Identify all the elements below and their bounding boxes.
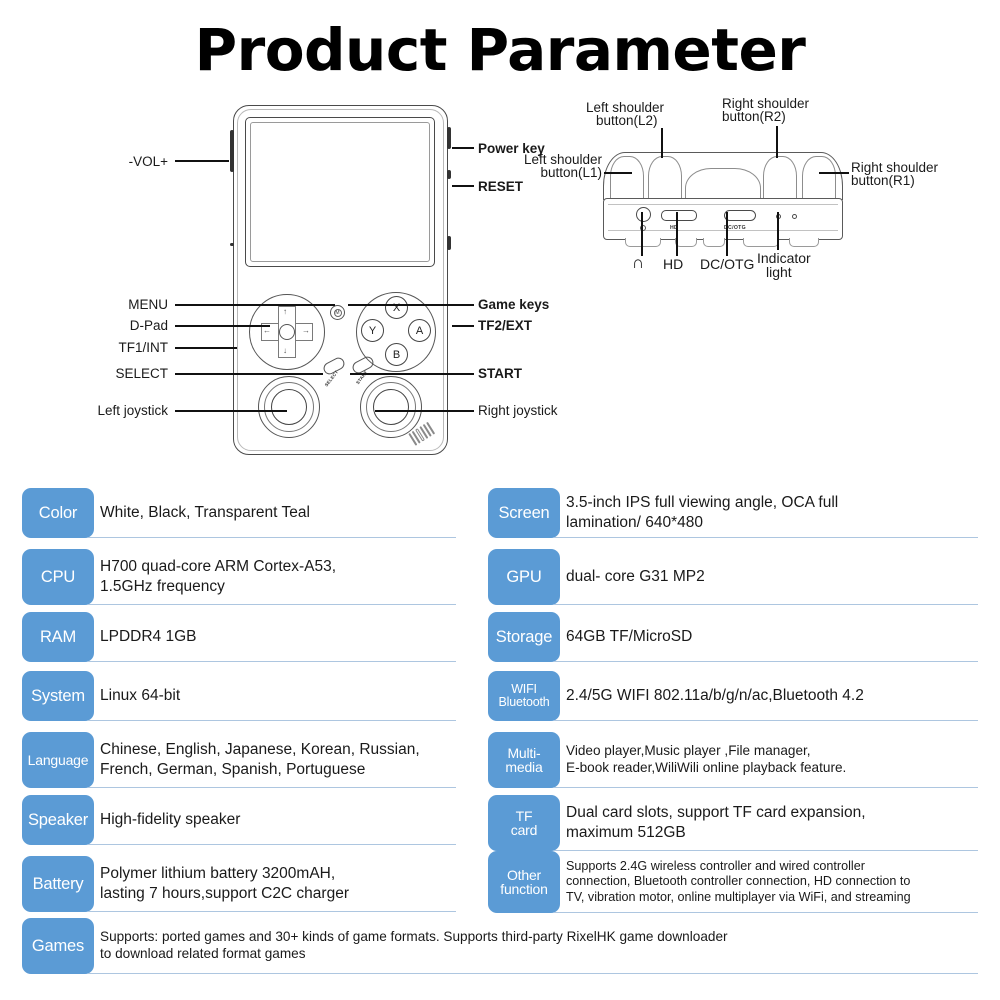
dpad-up-arrow-icon: ↑ (283, 308, 287, 316)
power-key (447, 127, 451, 149)
label-dc-otg: DC/OTG (700, 257, 754, 273)
foot-block (675, 238, 697, 247)
spec-row: Storage64GB TF/MicroSD (488, 612, 978, 662)
spec-label-chip: TFcard (488, 795, 560, 851)
spec-value-text: 2.4/5G WIFI 802.11a/b/g/n/ac,Bluetooth 4… (566, 686, 864, 706)
leader-dc-otg (726, 212, 728, 256)
label-left-joystick: Left joystick (58, 403, 168, 418)
spec-value-text: 3.5-inch IPS full viewing angle, OCA ful… (566, 493, 838, 533)
button-x: X (385, 296, 408, 319)
right-joystick (360, 376, 422, 438)
spec-value-text: LPDDR4 1GB (100, 627, 196, 647)
spec-row: ColorWhite, Black, Transparent Teal (22, 488, 456, 538)
spec-label-chip: Games (22, 918, 94, 974)
headphone-jack-port (636, 207, 651, 222)
spec-row: BatteryPolymer lithium battery 3200mAH,l… (22, 856, 456, 912)
spec-label-chip: Battery (22, 856, 94, 912)
headphone-icon: ∩ (632, 254, 644, 271)
page-title: Product Parameter (0, 16, 1000, 84)
spec-label-chip: Color (22, 488, 94, 538)
spec-row: Screen3.5-inch IPS full viewing angle, O… (488, 488, 978, 538)
menu-button: M (330, 305, 345, 320)
spec-row: LanguageChinese, English, Japanese, Kore… (22, 732, 456, 788)
spec-row: CPUH700 quad-core ARM Cortex-A53,1.5GHz … (22, 549, 456, 605)
label-tf1: TF1/INT (90, 340, 168, 355)
dc-otg-port (724, 210, 756, 221)
spec-row: SystemLinux 64-bit (22, 671, 456, 721)
spec-value-cell: Dual card slots, support TF card expansi… (554, 795, 978, 851)
spec-label-chip: CPU (22, 549, 94, 605)
left-joystick-cap (271, 389, 307, 425)
device-screen (250, 122, 430, 262)
label-right-joystick: Right joystick (478, 403, 558, 418)
spec-table: ColorWhite, Black, Transparent TealCPUH7… (0, 486, 1000, 986)
leader-tf1 (175, 347, 237, 349)
label-menu: MENU (100, 297, 168, 312)
spec-row: GPUdual- core G31 MP2 (488, 549, 978, 605)
spec-value-text: dual- core G31 MP2 (566, 567, 705, 587)
spec-label-chip: Storage (488, 612, 560, 662)
button-a: A (408, 319, 431, 342)
spec-value-cell: 64GB TF/MicroSD (554, 612, 978, 662)
spec-label-chip: System (22, 671, 94, 721)
spec-label-chip: RAM (22, 612, 94, 662)
foot-block (743, 238, 779, 247)
label-reset: RESET (478, 179, 523, 194)
label-indicator-light-line2: light (766, 265, 792, 281)
spec-value-text: Supports 2.4G wireless controller and wi… (566, 859, 911, 905)
label-dpad: D-Pad (100, 318, 168, 333)
spec-row: TFcardDual card slots, support TF card e… (488, 795, 978, 851)
dpad-down-arrow-icon: ↓ (283, 347, 287, 355)
spec-label-chip: Language (22, 732, 94, 788)
leader-hd (676, 212, 678, 256)
label-l1-line2: button(L1) (494, 165, 602, 180)
shoulder-button-row (603, 152, 843, 200)
top-face-panel: HD DC/OTG (603, 198, 843, 240)
dpad-left-arrow-icon: ← (263, 327, 271, 335)
leader-menu (175, 304, 335, 306)
spec-label-chip: Multi-media (488, 732, 560, 788)
reset-key (447, 170, 451, 179)
spec-value-cell: LPDDR4 1GB (88, 612, 456, 662)
dpad: ↑ ↓ ← → (261, 306, 313, 358)
spec-value-text: Supports: ported games and 30+ kinds of … (100, 929, 728, 963)
spec-label-chip: WIFIBluetooth (488, 671, 560, 721)
label-r1-line2: button(R1) (851, 173, 915, 188)
shoulder-button-l1 (610, 156, 644, 200)
spec-label-chip: Otherfunction (488, 851, 560, 913)
foot-block (789, 238, 819, 247)
spec-value-cell: 2.4/5G WIFI 802.11a/b/g/n/ac,Bluetooth 4… (554, 671, 978, 721)
label-r2-line2: button(R2) (722, 109, 786, 124)
leader-reset (452, 185, 474, 187)
indicator-led-2 (792, 214, 797, 219)
device-top-view: HD DC/OTG (603, 152, 843, 240)
spec-value-text: H700 quad-core ARM Cortex-A53,1.5GHz fre… (100, 557, 336, 597)
spec-value-text: White, Black, Transparent Teal (100, 503, 310, 523)
spec-value-text: Polymer lithium battery 3200mAH,lasting … (100, 864, 349, 904)
volume-key (230, 130, 234, 172)
spec-value-cell: Linux 64-bit (88, 671, 456, 721)
spec-row: OtherfunctionSupports 2.4G wireless cont… (488, 851, 978, 913)
label-vol: -VOL+ (108, 154, 168, 169)
spec-row: GamesSupports: ported games and 30+ kind… (22, 918, 978, 974)
spec-value-cell: Video player,Music player ,File manager,… (554, 732, 978, 788)
shoulder-button-l2 (648, 156, 682, 200)
spec-value-text: Dual card slots, support TF card expansi… (566, 803, 866, 843)
label-start: START (478, 366, 522, 381)
top-face-hairline (608, 204, 838, 205)
spec-label-chip: Speaker (22, 795, 94, 845)
leader-right-joystick (375, 410, 474, 412)
spec-label-chip: Screen (488, 488, 560, 538)
label-select: SELECT (92, 366, 168, 381)
device-front-view: ↑ ↓ ← → M X Y A B SELECT START (233, 105, 448, 455)
spec-value-text: High-fidelity speaker (100, 810, 240, 830)
tf2-ext-slot (447, 236, 451, 250)
leader-dpad (175, 325, 270, 327)
spec-value-cell: Polymer lithium battery 3200mAH,lasting … (88, 856, 456, 912)
label-tf2-ext: TF2/EXT (478, 318, 532, 333)
leader-start (350, 373, 474, 375)
spec-grid: ColorWhite, Black, Transparent TealCPUH7… (0, 486, 1000, 986)
spec-value-cell: Chinese, English, Japanese, Korean, Russ… (88, 732, 456, 788)
leader-indicator-light (777, 212, 779, 250)
tf1-slot (230, 243, 234, 246)
leader-left-joystick (175, 410, 287, 412)
product-diagram: ↑ ↓ ← → M X Y A B SELECT START (0, 92, 1000, 482)
dpad-right-arrow-icon: → (302, 327, 310, 335)
leader-select (175, 373, 323, 375)
spec-value-text: Linux 64-bit (100, 686, 180, 706)
spec-row: WIFIBluetooth2.4/5G WIFI 802.11a/b/g/n/a… (488, 671, 978, 721)
button-b: B (385, 343, 408, 366)
label-l2-line2: button(L2) (596, 113, 658, 128)
spec-value-cell: White, Black, Transparent Teal (88, 488, 456, 538)
foot-block (703, 238, 725, 247)
leader-tf2 (452, 325, 474, 327)
leader-headphone (641, 212, 643, 256)
button-y: Y (361, 319, 384, 342)
spec-value-cell: 3.5-inch IPS full viewing angle, OCA ful… (554, 488, 978, 538)
top-view-foot-row (613, 238, 833, 248)
leader-r1 (819, 172, 849, 174)
spec-value-cell: High-fidelity speaker (88, 795, 456, 845)
label-game-keys: Game keys (478, 297, 549, 312)
spec-value-cell: Supports 2.4G wireless controller and wi… (554, 851, 978, 913)
spec-value-cell: dual- core G31 MP2 (554, 549, 978, 605)
shoulder-button-r2 (763, 156, 797, 200)
spec-row: Multi-mediaVideo player,Music player ,Fi… (488, 732, 978, 788)
top-shell-notch (685, 168, 761, 200)
spec-value-text: Video player,Music player ,File manager,… (566, 743, 846, 777)
left-joystick (258, 376, 320, 438)
leader-l2 (661, 128, 663, 158)
leader-game-keys (348, 304, 474, 306)
device-screen-bezel (245, 117, 435, 267)
leader-power-key (452, 147, 474, 149)
spec-value-text: 64GB TF/MicroSD (566, 627, 692, 647)
menu-button-glyph: M (334, 309, 342, 317)
spec-row: SpeakerHigh-fidelity speaker (22, 795, 456, 845)
shoulder-button-r1 (802, 156, 836, 200)
product-parameter-page: Product Parameter ↑ ↓ ← → (0, 0, 1000, 1000)
leader-vol (175, 160, 229, 162)
spec-label-chip: GPU (488, 549, 560, 605)
dpad-hub (279, 324, 295, 340)
label-hd: HD (663, 257, 683, 273)
spec-row: RAMLPDDR4 1GB (22, 612, 456, 662)
leader-l1 (604, 172, 632, 174)
leader-r2 (776, 126, 778, 158)
foot-block (625, 238, 661, 247)
spec-value-cell: H700 quad-core ARM Cortex-A53,1.5GHz fre… (88, 549, 456, 605)
right-joystick-cap (373, 389, 409, 425)
hd-port (661, 210, 697, 221)
spec-value-text: Chinese, English, Japanese, Korean, Russ… (100, 740, 420, 780)
spec-value-cell: Supports: ported games and 30+ kinds of … (88, 918, 978, 974)
